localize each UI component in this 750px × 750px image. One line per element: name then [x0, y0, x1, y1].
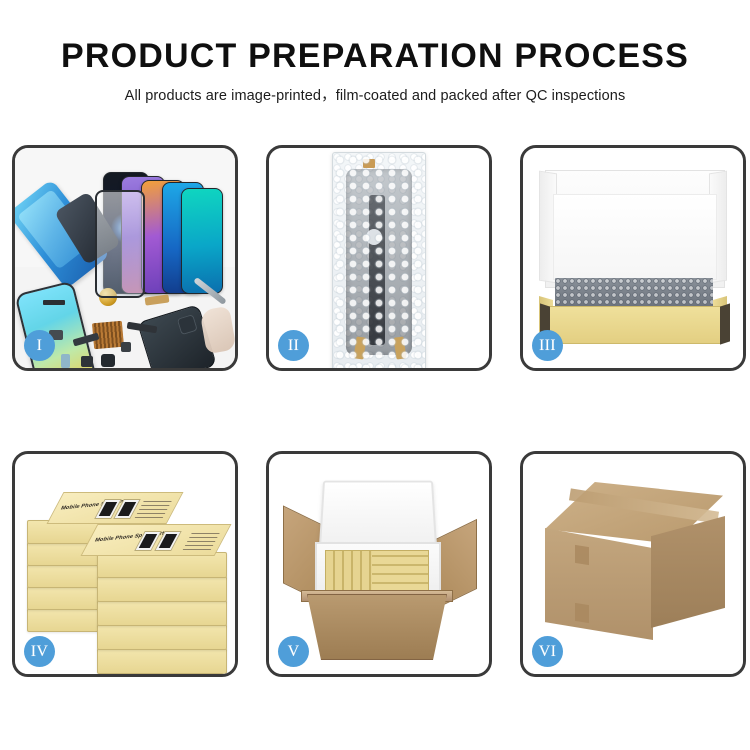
process-step-panel-2[interactable]: II	[266, 145, 492, 371]
step-badge-5: V	[278, 636, 309, 667]
process-step-grid: I II	[12, 145, 746, 677]
foam-sheet	[553, 194, 717, 280]
step-badge-1: I	[24, 330, 55, 361]
bubble-texture-overlay	[333, 153, 425, 368]
carton-tape-2	[575, 603, 589, 623]
page-title: PRODUCT PREPARATION PROCESS	[0, 38, 750, 75]
stacked-box	[97, 624, 227, 650]
page-subtitle: All products are image-printed，film-coat…	[0, 84, 750, 105]
tempered-glass-shape	[95, 190, 145, 298]
process-step-panel-1[interactable]: I	[12, 145, 238, 371]
inner-kraft-boxes	[325, 550, 429, 592]
step-badge-4: IV	[24, 636, 55, 667]
foam-box-lid	[319, 481, 438, 550]
step-badge-2: II	[278, 330, 309, 361]
box-label-lines	[183, 530, 222, 550]
stacked-box	[97, 600, 227, 626]
tweezers-icon	[193, 277, 227, 305]
process-step-panel-3[interactable]: III	[520, 145, 746, 371]
component-2-shape	[81, 356, 93, 367]
flex-cable-1-shape	[145, 294, 170, 305]
carton-front	[307, 594, 447, 660]
earpiece-shape	[43, 300, 65, 305]
component-3-shape	[101, 354, 115, 367]
stacked-box	[97, 576, 227, 602]
box-top-face-1: Mobile Phone Spare Parts	[46, 492, 183, 524]
step-badge-6: VI	[532, 636, 563, 667]
bubble-wrap-contents	[555, 278, 713, 308]
process-step-panel-4[interactable]: Mobile Phone Spare Parts Mobile Phone Sp…	[12, 451, 238, 677]
box-label-lines	[135, 498, 174, 518]
step-badge-3: III	[532, 330, 563, 361]
bubble-wrapped-package	[332, 152, 426, 368]
process-step-panel-6[interactable]: VI	[520, 451, 746, 677]
box-top-face-2: Mobile Phone Spare Parts	[80, 524, 231, 556]
phone-display-1	[181, 188, 223, 294]
box-stack-group: Mobile Phone Spare Parts Mobile Phone Sp…	[23, 478, 235, 666]
kraft-box-front	[547, 306, 723, 344]
carton-tape-1	[575, 545, 589, 565]
process-step-panel-5[interactable]: V	[266, 451, 492, 677]
component-4-shape	[121, 342, 131, 352]
page-header: PRODUCT PREPARATION PROCESS All products…	[0, 0, 750, 105]
component-1-shape	[61, 354, 70, 368]
stacked-box	[97, 648, 227, 674]
carton-left-face	[545, 528, 653, 640]
